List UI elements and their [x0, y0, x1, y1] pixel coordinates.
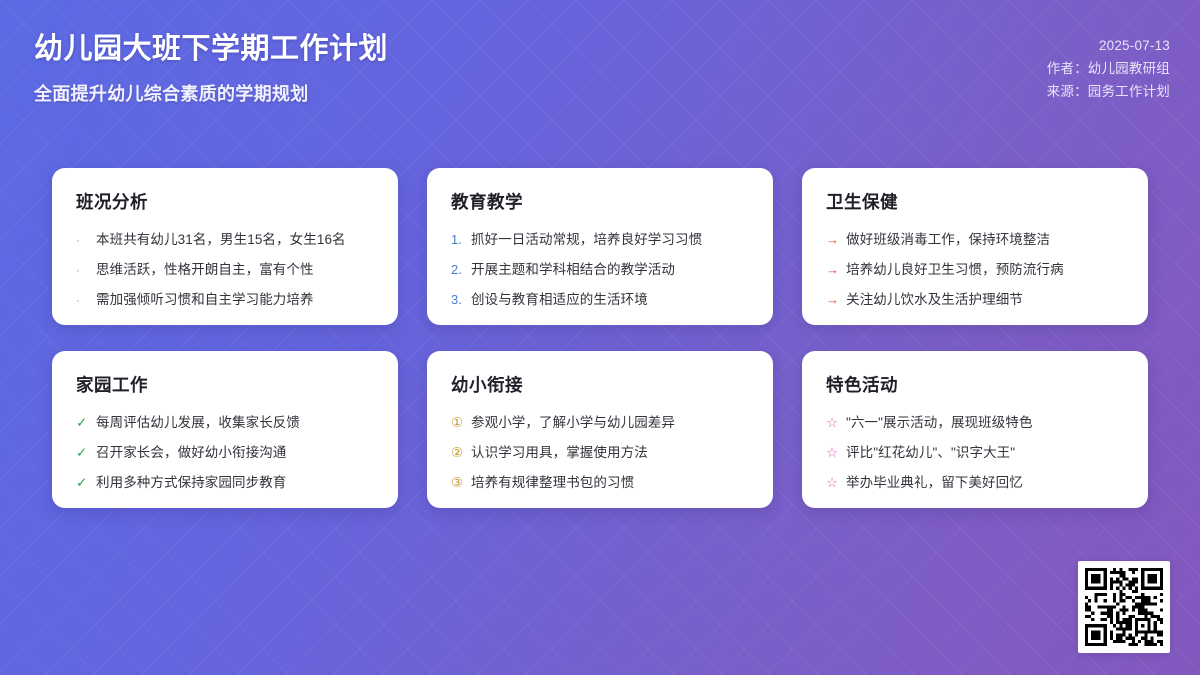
- content-card: 卫生保健→做好班级消毒工作，保持环境整洁→培养幼儿良好卫生习惯，预防流行病→关注…: [802, 168, 1148, 325]
- meta-date: 2025-07-13: [1047, 34, 1170, 57]
- list-marker-icon: ·: [76, 293, 89, 310]
- list-marker-icon: ③: [451, 473, 464, 494]
- list-item: ·本班共有幼儿31名，男生15名，女生16名: [76, 230, 376, 251]
- list-item: ☆评比"红花幼儿"、"识字大王": [826, 443, 1126, 464]
- list-marker-icon: 1.: [451, 230, 464, 250]
- list-item: 3.创设与教育相适应的生活环境: [451, 290, 751, 311]
- list-marker-icon: ☆: [826, 443, 839, 464]
- list-item: ✓利用多种方式保持家园同步教育: [76, 473, 376, 494]
- list-marker-icon: ☆: [826, 413, 839, 434]
- header-title-block: 幼儿园大班下学期工作计划 全面提升幼儿综合素质的学期规划: [34, 26, 388, 106]
- list-item: ②认识学习用具，掌握使用方法: [451, 443, 751, 464]
- list-item-text: 参观小学，了解小学与幼儿园差异: [471, 413, 675, 434]
- list-marker-icon: ·: [76, 263, 89, 280]
- list-item-text: 本班共有幼儿31名，男生15名，女生16名: [96, 230, 346, 251]
- list-item-text: 召开家长会，做好幼小衔接沟通: [96, 443, 286, 464]
- list-item: 1.抓好一日活动常规，培养良好学习习惯: [451, 230, 751, 251]
- list-item-text: 思维活跃，性格开朗自主，富有个性: [96, 260, 314, 281]
- list-item: ✓每周评估幼儿发展，收集家长反馈: [76, 413, 376, 434]
- list-item-text: "六一"展示活动，展现班级特色: [846, 413, 1033, 434]
- list-item-text: 需加强倾听习惯和自主学习能力培养: [96, 290, 314, 311]
- list-marker-icon: ☆: [826, 473, 839, 494]
- list-item-text: 做好班级消毒工作，保持环境整洁: [846, 230, 1050, 251]
- list-item: →培养幼儿良好卫生习惯，预防流行病: [826, 260, 1126, 281]
- meta-source: 来源：园务工作计划: [1047, 80, 1170, 103]
- content-card: 幼小衔接①参观小学，了解小学与幼儿园差异②认识学习用具，掌握使用方法③培养有规律…: [427, 351, 773, 508]
- header-meta-block: 2025-07-13 作者：幼儿园教研组 来源：园务工作计划: [1047, 26, 1170, 104]
- list-marker-icon: ✓: [76, 413, 89, 434]
- slide-canvas: 幼儿园大班下学期工作计划 全面提升幼儿综合素质的学期规划 2025-07-13 …: [0, 0, 1200, 675]
- card-list: ✓每周评估幼儿发展，收集家长反馈✓召开家长会，做好幼小衔接沟通✓利用多种方式保持…: [76, 413, 376, 494]
- list-item: ·需加强倾听习惯和自主学习能力培养: [76, 290, 376, 311]
- page-subtitle: 全面提升幼儿综合素质的学期规划: [34, 80, 388, 106]
- slide-header: 幼儿园大班下学期工作计划 全面提升幼儿综合素质的学期规划 2025-07-13 …: [0, 0, 1200, 140]
- card-list: ☆"六一"展示活动，展现班级特色☆评比"红花幼儿"、"识字大王"☆举办毕业典礼，…: [826, 413, 1126, 494]
- list-item: ✓召开家长会，做好幼小衔接沟通: [76, 443, 376, 464]
- card-grid: 班况分析·本班共有幼儿31名，男生15名，女生16名·思维活跃，性格开朗自主，富…: [52, 168, 1148, 508]
- list-item-text: 每周评估幼儿发展，收集家长反馈: [96, 413, 300, 434]
- content-card: 家园工作✓每周评估幼儿发展，收集家长反馈✓召开家长会，做好幼小衔接沟通✓利用多种…: [52, 351, 398, 508]
- list-item-text: 关注幼儿饮水及生活护理细节: [846, 290, 1023, 311]
- qr-code-image: [1085, 568, 1163, 646]
- list-marker-icon: →: [826, 290, 839, 310]
- card-list: ①参观小学，了解小学与幼儿园差异②认识学习用具，掌握使用方法③培养有规律整理书包…: [451, 413, 751, 494]
- list-item: 2.开展主题和学科相结合的教学活动: [451, 260, 751, 281]
- list-marker-icon: →: [826, 230, 839, 250]
- card-list: ·本班共有幼儿31名，男生15名，女生16名·思维活跃，性格开朗自主，富有个性·…: [76, 230, 376, 311]
- card-title: 特色活动: [826, 372, 1126, 397]
- list-item: →做好班级消毒工作，保持环境整洁: [826, 230, 1126, 251]
- list-marker-icon: ①: [451, 413, 464, 434]
- list-item: ☆"六一"展示活动，展现班级特色: [826, 413, 1126, 434]
- list-item: →关注幼儿饮水及生活护理细节: [826, 290, 1126, 311]
- list-item-text: 利用多种方式保持家园同步教育: [96, 473, 286, 494]
- list-item-text: 抓好一日活动常规，培养良好学习习惯: [471, 230, 702, 251]
- list-item-text: 评比"红花幼儿"、"识字大王": [846, 443, 1015, 464]
- list-marker-icon: →: [826, 260, 839, 280]
- content-card: 特色活动☆"六一"展示活动，展现班级特色☆评比"红花幼儿"、"识字大王"☆举办毕…: [802, 351, 1148, 508]
- list-item-text: 培养幼儿良好卫生习惯，预防流行病: [846, 260, 1064, 281]
- meta-author: 作者：幼儿园教研组: [1047, 57, 1170, 80]
- content-card: 班况分析·本班共有幼儿31名，男生15名，女生16名·思维活跃，性格开朗自主，富…: [52, 168, 398, 325]
- list-item-text: 开展主题和学科相结合的教学活动: [471, 260, 675, 281]
- list-marker-icon: ✓: [76, 473, 89, 494]
- list-item-text: 认识学习用具，掌握使用方法: [471, 443, 648, 464]
- list-item: ☆举办毕业典礼，留下美好回忆: [826, 473, 1126, 494]
- page-title: 幼儿园大班下学期工作计划: [34, 31, 388, 67]
- qr-code[interactable]: [1078, 561, 1170, 653]
- card-title: 教育教学: [451, 189, 751, 214]
- list-marker-icon: ✓: [76, 443, 89, 464]
- list-item-text: 培养有规律整理书包的习惯: [471, 473, 634, 494]
- list-marker-icon: 3.: [451, 290, 464, 310]
- list-item: ·思维活跃，性格开朗自主，富有个性: [76, 260, 376, 281]
- list-item: ①参观小学，了解小学与幼儿园差异: [451, 413, 751, 434]
- card-list: 1.抓好一日活动常规，培养良好学习习惯2.开展主题和学科相结合的教学活动3.创设…: [451, 230, 751, 311]
- card-title: 班况分析: [76, 189, 376, 214]
- list-marker-icon: ·: [76, 233, 89, 250]
- list-item-text: 创设与教育相适应的生活环境: [471, 290, 648, 311]
- list-marker-icon: ②: [451, 443, 464, 464]
- card-list: →做好班级消毒工作，保持环境整洁→培养幼儿良好卫生习惯，预防流行病→关注幼儿饮水…: [826, 230, 1126, 311]
- card-title: 卫生保健: [826, 189, 1126, 214]
- card-title: 家园工作: [76, 372, 376, 397]
- list-item: ③培养有规律整理书包的习惯: [451, 473, 751, 494]
- content-card: 教育教学1.抓好一日活动常规，培养良好学习习惯2.开展主题和学科相结合的教学活动…: [427, 168, 773, 325]
- list-item-text: 举办毕业典礼，留下美好回忆: [846, 473, 1023, 494]
- card-title: 幼小衔接: [451, 372, 751, 397]
- list-marker-icon: 2.: [451, 260, 464, 280]
